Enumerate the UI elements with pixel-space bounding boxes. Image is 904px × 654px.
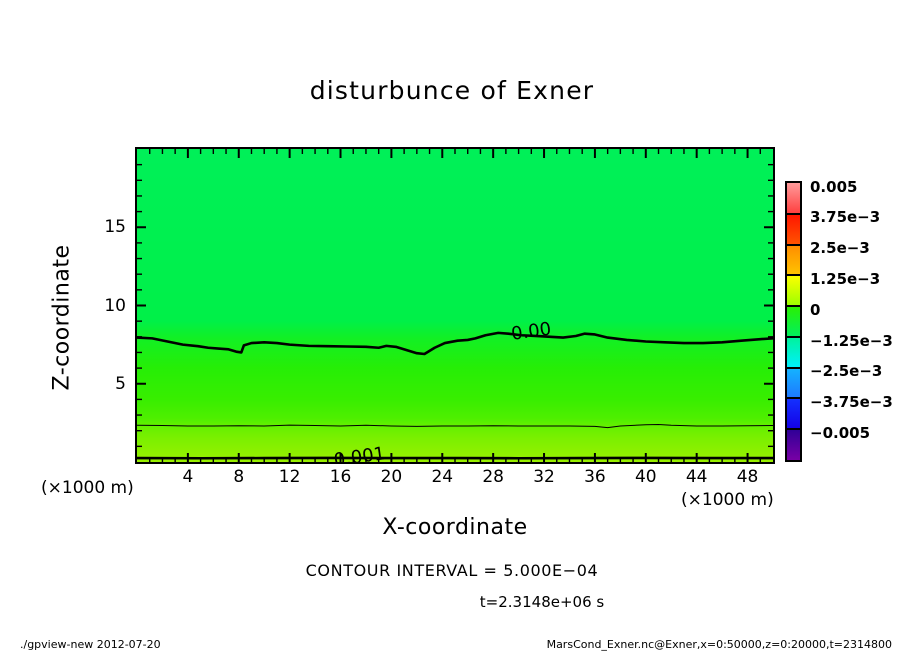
- x-tick-label: 24: [431, 467, 453, 487]
- timestamp-note: t=2.3148e+06 s: [0, 593, 904, 611]
- x-unit-label-right: (×1000 m): [681, 490, 774, 510]
- x-tick-label: 12: [279, 467, 301, 487]
- x-tick-label: 28: [482, 467, 504, 487]
- plot-root: disturbunce of Exner 0.000.001 Z-coordin…: [0, 0, 904, 654]
- colorbar-tick-label: 0: [810, 301, 820, 319]
- x-axis-title: X-coordinate: [135, 515, 775, 540]
- colorbar-separator: [787, 367, 800, 369]
- colorbar-separator: [787, 213, 800, 215]
- colorbar-band: [787, 183, 800, 214]
- x-unit-label-left: (×1000 m): [41, 478, 134, 498]
- colorbar-tick-label: 1.25e−3: [810, 270, 880, 288]
- colorbar-band: [787, 245, 800, 276]
- colorbar-band: [787, 398, 800, 429]
- x-tick-label: 20: [381, 467, 403, 487]
- colorbar-tick-label: −0.005: [810, 424, 870, 442]
- colorbar-band: [787, 306, 800, 337]
- page-title: disturbunce of Exner: [0, 76, 904, 105]
- colorbar-band: [787, 429, 800, 460]
- colorbar-tick-label: −3.75e−3: [810, 393, 893, 411]
- colorbar-separator: [787, 336, 800, 338]
- footer-source: MarsCond_Exner.nc@Exner,x=0:50000,z=0:20…: [547, 638, 892, 651]
- x-tick-label: 32: [533, 467, 555, 487]
- colorbar-tick-label: −1.25e−3: [810, 332, 893, 350]
- x-tick-label: 36: [584, 467, 606, 487]
- colorbar-band: [787, 337, 800, 368]
- colorbar-separator: [787, 244, 800, 246]
- colorbar-tick-label: −2.5e−3: [810, 362, 882, 380]
- colorbar-band: [787, 275, 800, 306]
- colorbar[interactable]: [785, 181, 802, 462]
- x-tick-label: 44: [686, 467, 708, 487]
- x-tick-label: 16: [330, 467, 352, 487]
- x-tick-label: 48: [737, 467, 759, 487]
- colorbar-tick-label: 0.005: [810, 178, 857, 196]
- colorbar-separator: [787, 397, 800, 399]
- x-tick-label: 40: [635, 467, 657, 487]
- colorbar-band: [787, 214, 800, 245]
- contour-interval-note: CONTOUR INTERVAL = 5.000E−04: [0, 561, 904, 580]
- colorbar-band: [787, 368, 800, 399]
- colorbar-separator: [787, 428, 800, 430]
- colorbar-separator: [787, 274, 800, 276]
- y-tick-label: 10: [86, 296, 126, 316]
- contour-canvas: 0.000.001: [137, 149, 773, 462]
- colorbar-separator: [787, 305, 800, 307]
- y-tick-label: 15: [86, 217, 126, 237]
- y-axis-title: Z-coordinate: [50, 218, 75, 418]
- x-tick-label: 4: [182, 467, 193, 487]
- colorbar-tick-label: 2.5e−3: [810, 239, 870, 257]
- contour-plot-area[interactable]: 0.000.001: [135, 147, 775, 464]
- x-tick-label: 8: [233, 467, 244, 487]
- y-tick-label: 5: [86, 374, 126, 394]
- colorbar-tick-label: 3.75e−3: [810, 208, 880, 226]
- footer-command: ./gpview-new 2012-07-20: [20, 638, 161, 651]
